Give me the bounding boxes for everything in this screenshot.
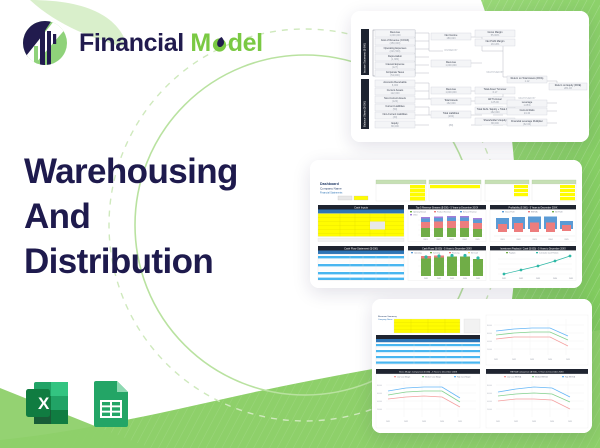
svg-text:80,000: 80,000: [377, 385, 382, 387]
page-title: Warehousing And Distribution: [24, 150, 238, 284]
svg-text:Investing: Investing: [433, 251, 440, 254]
svg-text:Gross Profit: Gross Profit: [505, 210, 515, 213]
svg-text:162,000: 162,000: [446, 102, 456, 105]
brand-name-part1: Financial: [79, 29, 184, 57]
svg-text:EBITDA Comparison ($ 000) - 5: EBITDA Comparison ($ 000) - 5 Years to D…: [510, 371, 564, 374]
svg-text:20X1: 20X1: [500, 239, 504, 241]
svg-text:Revenue Summary: Revenue Summary: [378, 315, 398, 318]
svg-text:125.00: 125.00: [491, 101, 499, 104]
svg-text:20X4: 20X4: [553, 278, 557, 280]
chart-top-right: 20X120X220X320X420X5 80,00060,00040,0002…: [486, 315, 588, 365]
svg-text:20X2: 20X2: [437, 278, 441, 280]
brand-name-part3: del: [228, 29, 263, 57]
svg-text:20X4: 20X4: [440, 421, 444, 423]
svg-text:20,000: 20,000: [377, 409, 382, 411]
svg-text:6.17: 6.17: [493, 91, 498, 94]
svg-text:Product Revenue: Product Revenue: [437, 210, 451, 213]
brand-name: Financial M del: [79, 30, 263, 56]
page-title-line1: Warehousing: [24, 150, 238, 195]
svg-text:20X3: 20X3: [532, 239, 536, 241]
svg-text:20X2: 20X2: [512, 359, 516, 361]
svg-text:High EBITDA: High EBITDA: [565, 375, 576, 378]
svg-text:20X3: 20X3: [449, 239, 453, 241]
svg-text:20X4: 20X4: [463, 278, 467, 280]
charts-screenshot: Revenue Summary Company Name: [372, 299, 592, 433]
svg-text:20X1: 20X1: [386, 421, 390, 423]
svg-text:EBITDA: EBITDA: [531, 210, 538, 213]
svg-text:18.13%: 18.13%: [491, 43, 500, 46]
svg-text:1,000,000: 1,000,000: [389, 34, 401, 37]
svg-text:60,000: 60,000: [487, 333, 492, 335]
brand-name-part2: M: [190, 29, 210, 57]
svg-text:Investment Payback / Cash ($ 0: Investment Payback / Cash ($ 000) - 5 Ye…: [500, 247, 566, 250]
brand-logo[interactable]: Financial M del: [22, 20, 263, 66]
svg-text:Cumulative Cash Position: Cumulative Cash Position: [539, 251, 558, 254]
svg-text:Cash Inputs: Cash Inputs: [354, 205, 369, 209]
svg-text:(450,000): (450,000): [390, 42, 401, 45]
svg-text:20X1: 20X1: [502, 278, 506, 280]
svg-text:20X3: 20X3: [422, 421, 426, 423]
chart-bottom-right: EBITDA Comparison ($ 000) - 5 Years to D…: [486, 369, 588, 428]
svg-text:Income Statement ($ 000): Income Statement ($ 000): [363, 43, 367, 73]
svg-text:20X5: 20X5: [476, 278, 480, 280]
svg-text:Cash Flow Statement ($ 000): Cash Flow Statement ($ 000): [344, 246, 378, 250]
svg-text:24.40: 24.40: [524, 112, 531, 115]
svg-text:Balance Sheet ($ 000): Balance Sheet ($ 000): [363, 101, 367, 127]
svg-text:20X5: 20X5: [568, 421, 572, 423]
svg-text:Other: Other: [413, 213, 418, 216]
svg-text:Service Revenue: Service Revenue: [463, 211, 477, 213]
svg-text:20X2: 20X2: [404, 421, 408, 423]
page-title-line3: Distribution: [24, 240, 238, 285]
svg-text:Payback: Payback: [509, 252, 516, 254]
svg-text:20X4: 20X4: [548, 359, 552, 361]
svg-text:MULTIPLIED BY: MULTIPLIED BY: [486, 72, 504, 74]
svg-text:20X2: 20X2: [436, 239, 440, 241]
svg-text:80,000: 80,000: [491, 122, 499, 125]
svg-text:20X4: 20X4: [462, 239, 466, 241]
svg-text:Operating: Operating: [414, 251, 421, 254]
svg-text:1,000,000: 1,000,000: [445, 91, 457, 94]
svg-text:20X5: 20X5: [569, 278, 573, 280]
svg-text:40,000: 40,000: [377, 401, 382, 403]
svg-text:20X2: 20X2: [514, 421, 518, 423]
svg-text:20,000: 20,000: [487, 409, 492, 411]
svg-text:High Case Margin: High Case Margin: [457, 375, 471, 378]
svg-text:20X1: 20X1: [424, 278, 428, 280]
svg-text:MULTIPLIED BY: MULTIPLIED BY: [518, 98, 536, 100]
svg-text:20X2: 20X2: [519, 278, 523, 280]
svg-text:(200): (200): [448, 115, 454, 118]
microsoft-excel-icon[interactable]: X: [22, 378, 72, 428]
svg-text:(127): (127): [392, 66, 398, 69]
circle-bar-chart-logo-icon: [22, 20, 68, 66]
svg-text:X: X: [38, 394, 50, 413]
svg-text:20X1: 20X1: [496, 421, 500, 423]
dupont-ratio-tree-card[interactable]: Income Statement ($ 000) Balance Sheet (…: [351, 11, 589, 142]
svg-text:40,000: 40,000: [487, 401, 492, 403]
dashboard-screenshot: Dashboard Company Name Financial Stateme…: [310, 160, 582, 288]
chart-bottom-left: Gross Margin Comparison ($ 000) - 5 Year…: [376, 369, 480, 428]
svg-text:180,023: 180,023: [446, 37, 456, 40]
financial-charts-card[interactable]: Revenue Summary Company Name: [372, 299, 592, 433]
svg-text:20X3: 20X3: [532, 421, 536, 423]
svg-text:60,000: 60,000: [487, 393, 492, 395]
svg-text:Low Case Margin: Low Case Margin: [397, 375, 410, 378]
svg-text:20X4: 20X4: [548, 239, 552, 241]
svg-text:162,000: 162,000: [490, 111, 500, 114]
svg-text:20,000: 20,000: [487, 349, 492, 351]
svg-text:20X5: 20X5: [458, 421, 462, 423]
svg-text:8,000: 8,000: [392, 84, 399, 87]
svg-text:(1,380): (1,380): [391, 58, 399, 61]
svg-text:Financing: Financing: [452, 252, 459, 254]
svg-text:20X4: 20X4: [550, 421, 554, 423]
svg-text:(80): (80): [449, 124, 454, 127]
svg-text:(50): (50): [393, 108, 398, 111]
svg-text:Gross Margin Comparison ($ 000: Gross Margin Comparison ($ 000) - 5 Year…: [399, 371, 458, 374]
svg-text:Cash Flows ($ 000) - 5 Years t: Cash Flows ($ 000) - 5 Years to December…: [422, 247, 472, 250]
svg-text:20X5: 20X5: [564, 239, 568, 241]
svg-text:Medium EBITDA: Medium EBITDA: [535, 375, 548, 378]
svg-text:80,000: 80,000: [487, 385, 492, 387]
svg-text:(62.00): (62.00): [523, 123, 531, 126]
svg-text:20X1: 20X1: [494, 359, 498, 361]
dupont-tree-diagram: Income Statement ($ 000) Balance Sheet (…: [351, 11, 589, 142]
svg-text:20X5: 20X5: [566, 359, 570, 361]
svg-text:Opening Stream: Opening Stream: [413, 210, 427, 213]
svg-text:(221,500): (221,500): [390, 50, 401, 53]
svg-text:20X5: 20X5: [475, 239, 479, 241]
svg-text:(30): (30): [393, 116, 398, 119]
svg-text:Profitability ($ 000) - 5 Year: Profitability ($ 000) - 5 Years to Decem…: [509, 206, 558, 209]
svg-text:Medium Case Margin: Medium Case Margin: [425, 375, 441, 378]
financial-dashboard-card[interactable]: Dashboard Company Name Financial Stateme…: [310, 160, 582, 288]
svg-text:55.00%: 55.00%: [491, 34, 500, 37]
svg-text:(52,000): (52,000): [390, 74, 399, 77]
svg-text:1.05%: 1.05%: [523, 104, 531, 107]
svg-text:(120): (120): [392, 100, 398, 103]
svg-text:20X3: 20X3: [450, 278, 454, 280]
svg-text:Company Name: Company Name: [320, 187, 342, 191]
svg-text:Financial Statements: Financial Statements: [320, 192, 343, 195]
svg-text:20X3: 20X3: [536, 278, 540, 280]
svg-text:Company Name: Company Name: [378, 319, 393, 321]
google-sheets-icon[interactable]: [86, 378, 136, 428]
svg-text:20X3: 20X3: [530, 359, 534, 361]
svg-text:20X2: 20X2: [516, 239, 520, 241]
svg-text:Net Profit: Net Profit: [555, 210, 563, 213]
svg-text:60,000: 60,000: [377, 393, 382, 395]
svg-text:80,000: 80,000: [487, 325, 492, 327]
svg-text:122,000: 122,000: [390, 92, 400, 95]
svg-text:Dashboard: Dashboard: [320, 182, 339, 186]
svg-text:Top 5 Revenue Streams ($ 000): Top 5 Revenue Streams ($ 000) - 5 Years …: [416, 206, 479, 209]
svg-text:Net Cash: Net Cash: [471, 251, 478, 254]
svg-text:40,000: 40,000: [487, 341, 492, 343]
svg-text:1,000,000: 1,000,000: [445, 64, 457, 67]
svg-text:20X1: 20X1: [423, 239, 427, 241]
svg-text:DIVIDED BY: DIVIDED BY: [444, 50, 457, 52]
svg-text:Low Case EBITDA: Low Case EBITDA: [507, 375, 522, 378]
page-title-line2: And: [24, 195, 238, 240]
svg-text:1.12: 1.12: [525, 80, 530, 83]
svg-text:281.03: 281.03: [564, 87, 572, 90]
file-format-icons: X: [22, 378, 136, 428]
brand-logo-o: [211, 30, 228, 56]
svg-text:80,000: 80,000: [391, 125, 399, 128]
